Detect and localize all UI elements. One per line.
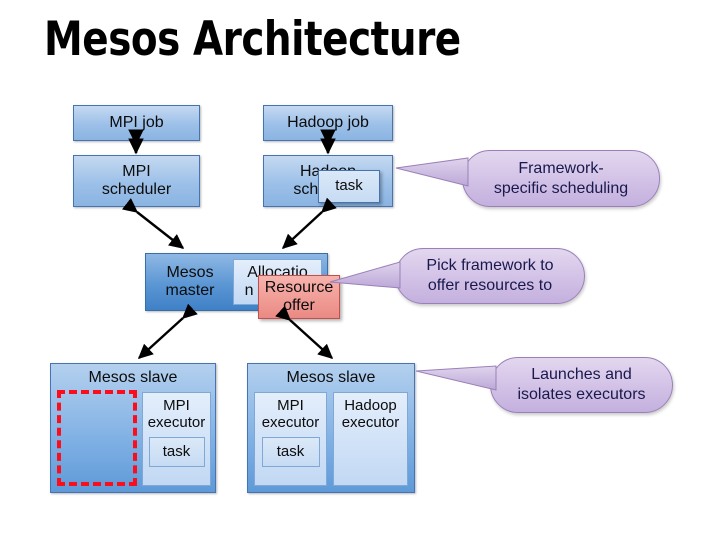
- hadoop-job-box[interactable]: Hadoop job: [263, 105, 393, 141]
- empty-resource-slot-dashed-region: [57, 390, 137, 486]
- mesos-master-label-line1: Mesos: [146, 264, 234, 282]
- mpi-executor-label-line2: executor: [148, 415, 206, 432]
- hadoop-job-label: Hadoop job: [285, 114, 371, 132]
- callout-launches-line1: Launches and: [531, 366, 632, 383]
- callout-tail-framework: [396, 158, 468, 186]
- mesos-master-label-group: Mesos master: [146, 264, 234, 300]
- callout-framework-line2: specific scheduling: [494, 180, 628, 197]
- mesos-slave-right-mpi-task-box[interactable]: task: [262, 437, 320, 467]
- mpi-scheduler-label-line1: MPI: [120, 163, 152, 181]
- arrow-mpi-scheduler-master: [137, 212, 183, 248]
- callout-launches-text: Launches and isolates executors: [507, 365, 655, 405]
- callout-pick-line2: offer resources to: [428, 277, 552, 294]
- hadoop-executor-label-line2: executor: [342, 415, 400, 432]
- callout-framework-specific-scheduling[interactable]: Framework- specific scheduling: [462, 150, 660, 207]
- callout-framework-text: Framework- specific scheduling: [484, 159, 638, 199]
- mpi-executor-right-label-line1: MPI: [277, 398, 304, 415]
- callout-tail-launches: [416, 366, 496, 390]
- mesos-master-label-line2: master: [146, 282, 234, 300]
- mpi-task-right-label: task: [275, 444, 307, 461]
- arrow-master-right-slave: [290, 320, 332, 358]
- callout-framework-line1: Framework-: [518, 160, 603, 177]
- mesos-slave-left-mpi-executor-box[interactable]: MPI executor task: [142, 392, 211, 486]
- callout-pick-framework[interactable]: Pick framework to offer resources to: [395, 248, 585, 304]
- mpi-scheduler-label-line2: scheduler: [100, 181, 173, 199]
- resource-offer-label-line2: offer: [281, 297, 317, 315]
- arrow-hadoop-scheduler-master: [283, 212, 322, 248]
- mesos-slave-right-mpi-executor-box[interactable]: MPI executor task: [254, 392, 327, 486]
- slide-canvas: Mesos Architecture MPI job Hadoop job MP…: [0, 0, 721, 540]
- hadoop-executor-label-line1: Hadoop: [344, 398, 397, 415]
- mesos-slave-right-title: Mesos slave: [285, 369, 378, 387]
- mpi-executor-right-label-line2: executor: [262, 415, 320, 432]
- callout-tail-pick-framework: [330, 262, 400, 288]
- mpi-job-box[interactable]: MPI job: [73, 105, 200, 141]
- page-title: Mesos Architecture: [44, 12, 461, 67]
- callout-pick-line1: Pick framework to: [426, 257, 553, 274]
- mesos-slave-right-hadoop-executor-box[interactable]: Hadoop executor: [333, 392, 408, 486]
- callout-launches-isolates[interactable]: Launches and isolates executors: [490, 357, 673, 413]
- mpi-executor-label-line1: MPI: [163, 398, 190, 415]
- resource-offer-box[interactable]: Resource offer: [258, 275, 340, 319]
- mpi-scheduler-box[interactable]: MPI scheduler: [73, 155, 200, 207]
- arrow-master-left-slave: [139, 318, 183, 358]
- mesos-slave-left-title: Mesos slave: [87, 369, 180, 387]
- hadoop-scheduler-task-box[interactable]: task: [318, 170, 380, 203]
- resource-offer-label-line1: Resource: [263, 279, 335, 297]
- hadoop-scheduler-task-label: task: [333, 178, 365, 195]
- callout-launches-line2: isolates executors: [517, 386, 645, 403]
- mpi-job-label: MPI job: [107, 114, 165, 132]
- mesos-slave-left-mpi-task-box[interactable]: task: [149, 437, 205, 467]
- callout-pick-framework-text: Pick framework to offer resources to: [416, 256, 563, 296]
- mpi-task-label: task: [161, 444, 193, 461]
